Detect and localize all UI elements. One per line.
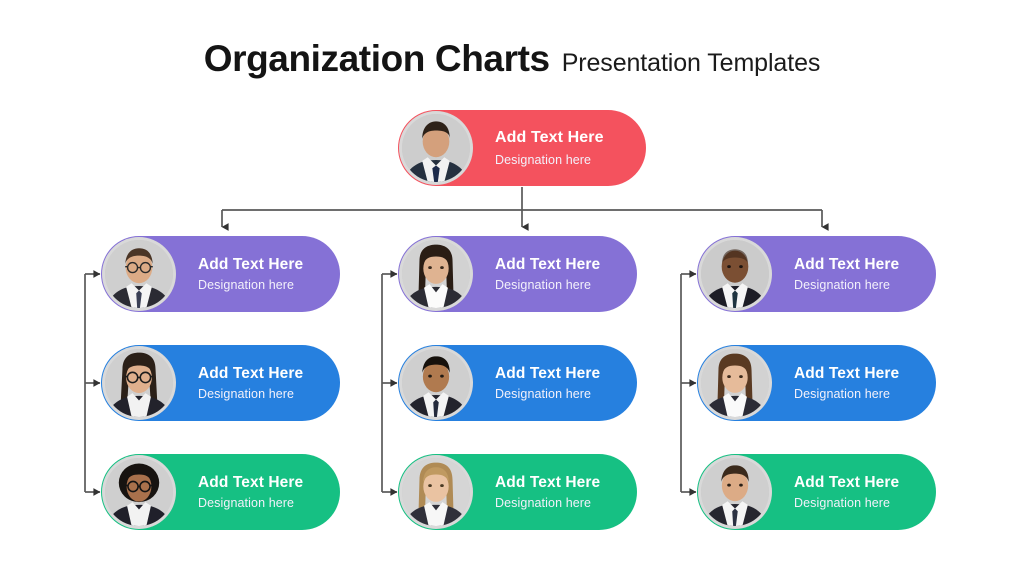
node-text-block: Add Text Here Designation here — [495, 473, 600, 512]
avatar-woman-glasses-long-dark-hair — [105, 349, 173, 417]
avatar — [399, 455, 473, 529]
node-designation: Designation here — [495, 152, 604, 168]
node-title: Add Text Here — [198, 364, 303, 384]
column-3-spine — [681, 274, 696, 492]
node-title: Add Text Here — [495, 473, 600, 493]
node-designation: Designation here — [794, 495, 899, 511]
avatar-woman-brown-hair — [701, 349, 769, 417]
node-designation: Designation here — [495, 277, 600, 293]
org-node-c2-r1[interactable]: Add Text Here Designation here — [398, 236, 637, 312]
node-title: Add Text Here — [495, 128, 604, 148]
org-node-c2-r3[interactable]: Add Text Here Designation here — [398, 454, 637, 530]
avatar — [102, 346, 176, 420]
node-text-block: Add Text Here Designation here — [794, 473, 899, 512]
node-text-block: Add Text Here Designation here — [794, 255, 899, 294]
column-2-spine — [382, 274, 397, 492]
avatar — [698, 237, 772, 311]
org-node-c1-r2[interactable]: Add Text Here Designation here — [101, 345, 340, 421]
page-title: Organization ChartsPresentation Template… — [0, 38, 1024, 80]
node-designation: Designation here — [198, 386, 303, 402]
root-to-bus-connector — [222, 187, 822, 227]
avatar — [698, 455, 772, 529]
avatar-man-short-hair-suit — [701, 458, 769, 526]
slide-canvas: Organization ChartsPresentation Template… — [0, 0, 1024, 576]
org-node-c2-r2[interactable]: Add Text Here Designation here — [398, 345, 637, 421]
node-text-block: Add Text Here Designation here — [198, 255, 303, 294]
node-title: Add Text Here — [495, 364, 600, 384]
node-designation: Designation here — [794, 277, 899, 293]
node-title: Add Text Here — [198, 473, 303, 493]
avatar — [399, 346, 473, 420]
page-title-main: Organization Charts — [204, 38, 550, 79]
org-node-c3-r2[interactable]: Add Text Here Designation here — [697, 345, 936, 421]
org-node-c3-r1[interactable]: Add Text Here Designation here — [697, 236, 936, 312]
avatar-man-glasses-short-brown-hair — [105, 240, 173, 308]
avatar-man-bald-suit-tie — [701, 240, 769, 308]
node-text-block: Add Text Here Designation here — [198, 364, 303, 403]
node-text-block: Add Text Here Designation here — [495, 255, 600, 294]
node-title: Add Text Here — [198, 255, 303, 275]
node-title: Add Text Here — [794, 364, 899, 384]
avatar — [399, 237, 473, 311]
column-1-spine — [85, 274, 100, 492]
avatar-man-dark-hair-suit-navy-tie — [402, 114, 470, 182]
avatar-woman-blonde-hair — [402, 458, 470, 526]
node-designation: Designation here — [794, 386, 899, 402]
node-designation: Designation here — [198, 277, 303, 293]
node-text-block: Add Text Here Designation here — [495, 128, 604, 167]
avatar — [399, 111, 473, 185]
node-title: Add Text Here — [794, 473, 899, 493]
avatar-woman-dark-hair-white-collar — [402, 240, 470, 308]
org-node-c1-r1[interactable]: Add Text Here Designation here — [101, 236, 340, 312]
node-designation: Designation here — [495, 495, 600, 511]
node-designation: Designation here — [198, 495, 303, 511]
page-title-subtitle: Presentation Templates — [562, 49, 821, 77]
avatar — [698, 346, 772, 420]
avatar-woman-glasses-curly-dark-hair — [105, 458, 173, 526]
node-title: Add Text Here — [495, 255, 600, 275]
org-node-root[interactable]: Add Text Here Designation here — [398, 110, 646, 186]
node-text-block: Add Text Here Designation here — [495, 364, 600, 403]
avatar-man-dark-hair-suit-tie — [402, 349, 470, 417]
avatar — [102, 455, 176, 529]
node-text-block: Add Text Here Designation here — [198, 473, 303, 512]
avatar — [102, 237, 176, 311]
org-node-c3-r3[interactable]: Add Text Here Designation here — [697, 454, 936, 530]
node-title: Add Text Here — [794, 255, 899, 275]
node-text-block: Add Text Here Designation here — [794, 364, 899, 403]
org-node-c1-r3[interactable]: Add Text Here Designation here — [101, 454, 340, 530]
node-designation: Designation here — [495, 386, 600, 402]
